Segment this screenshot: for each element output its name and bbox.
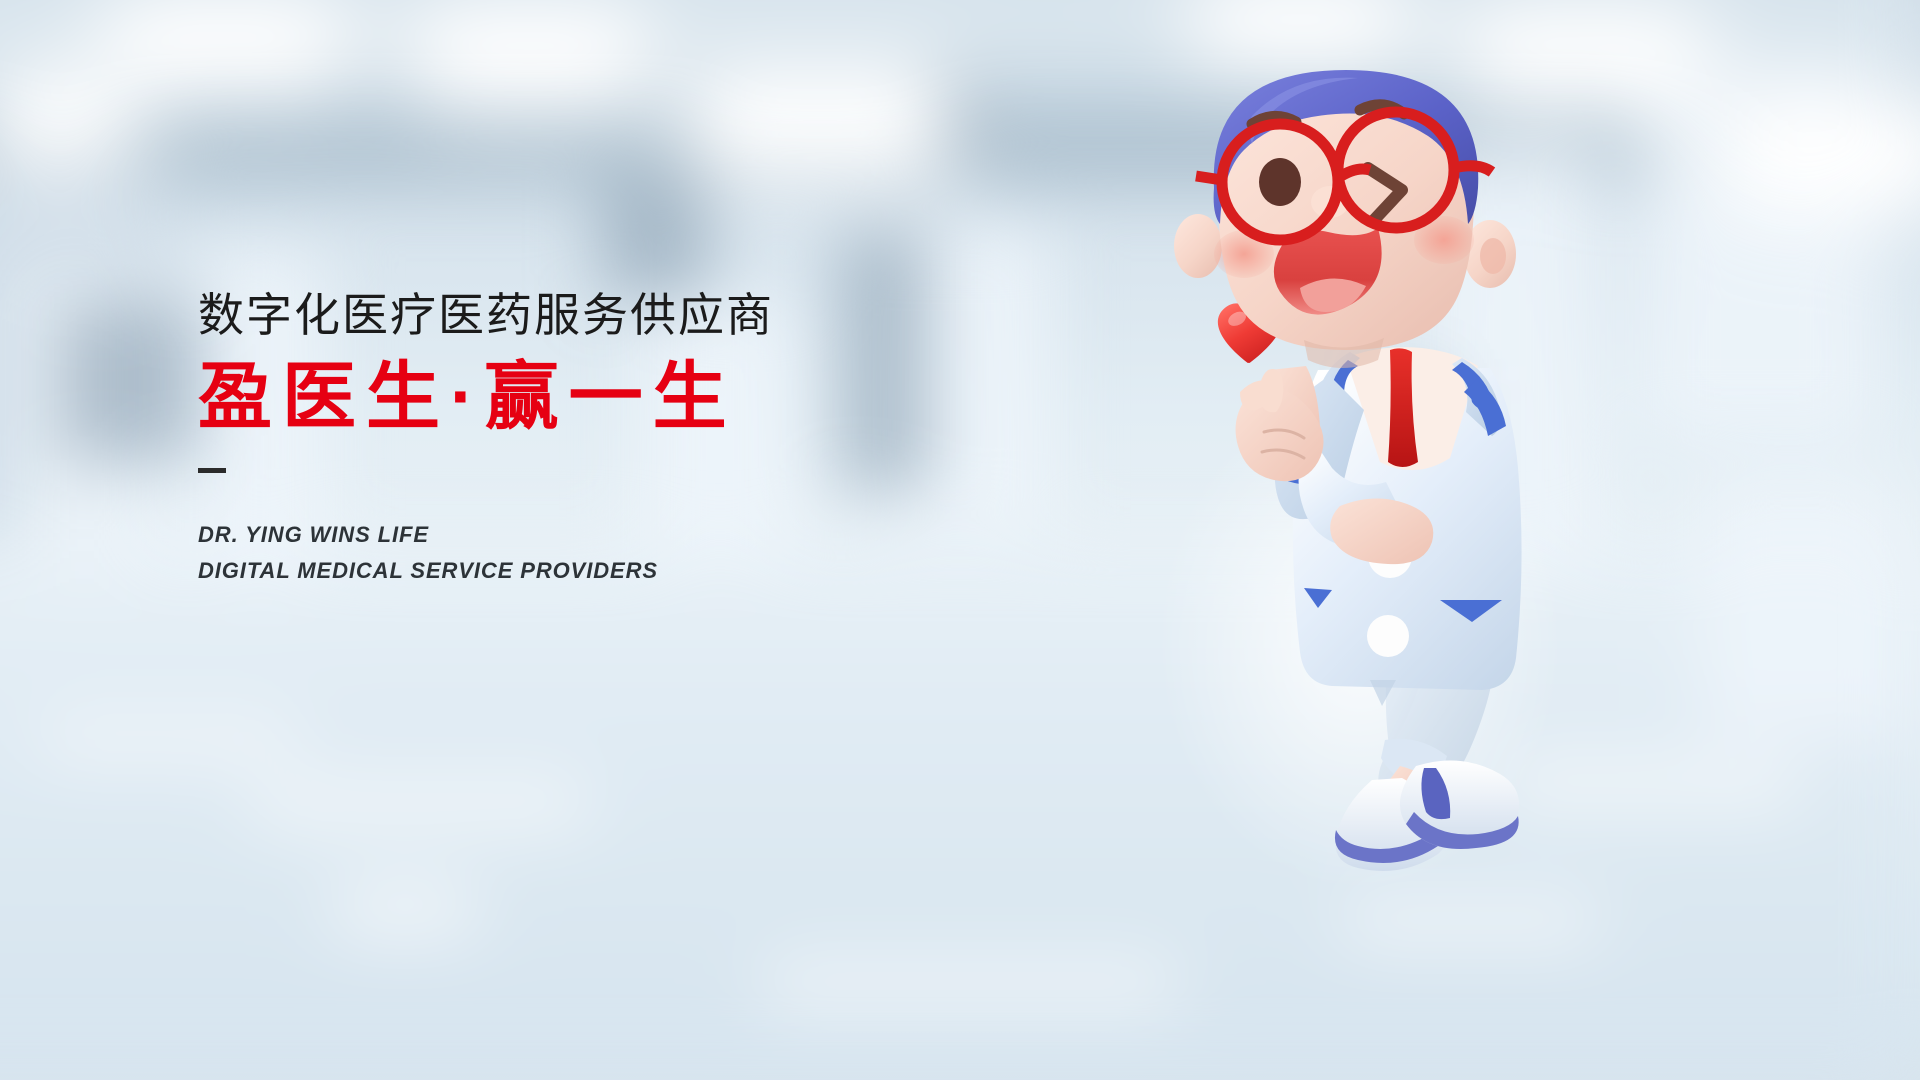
floor-reflection [330, 880, 480, 940]
ear-right-inner [1480, 238, 1506, 274]
hero-subtitle-chinese: 数字化医疗医药服务供应商 [198, 292, 958, 338]
ceiling-lamp [0, 96, 120, 144]
floor-reflection [760, 960, 1180, 1010]
title-divider-rule [198, 468, 226, 473]
doctor-mascot-illustration [1200, 40, 1660, 860]
hero-banner: 数字化医疗医药服务供应商 盈医生·赢一生 DR. YING WINS LIFE … [0, 0, 1920, 1080]
ceiling-lamp [705, 92, 935, 154]
ceiling-lamp [430, 28, 630, 86]
hero-english-copy: DR. YING WINS LIFE DIGITAL MEDICAL SERVI… [198, 517, 958, 589]
glasses-temple-right [1454, 166, 1492, 172]
floor-reflection [40, 720, 300, 760]
ceiling-lamp [1210, 0, 1390, 44]
glasses-temple-left [1196, 176, 1222, 180]
shoe-front [1400, 761, 1519, 849]
hero-copy: 数字化医疗医药服务供应商 盈医生·赢一生 DR. YING WINS LIFE … [198, 292, 958, 589]
ear-left [1174, 214, 1222, 278]
ceiling-lamp [1740, 120, 1920, 190]
hero-english-line-2: DIGITAL MEDICAL SERVICE PROVIDERS [198, 553, 958, 589]
floor-reflection [250, 780, 590, 830]
window-pane [1700, 480, 1900, 740]
corridor-shadow [600, 180, 710, 300]
coat-button-bottom [1367, 615, 1409, 657]
corridor-shadow [60, 300, 200, 460]
index-finger [1260, 369, 1283, 412]
ceiling-lamp [120, 18, 330, 70]
window-pane [1640, 60, 1880, 440]
eye-left-open [1259, 158, 1301, 206]
floor-reflection [1340, 900, 1600, 946]
hero-title-chinese: 盈医生·赢一生 [198, 360, 958, 434]
hero-english-line-1: DR. YING WINS LIFE [198, 517, 958, 553]
